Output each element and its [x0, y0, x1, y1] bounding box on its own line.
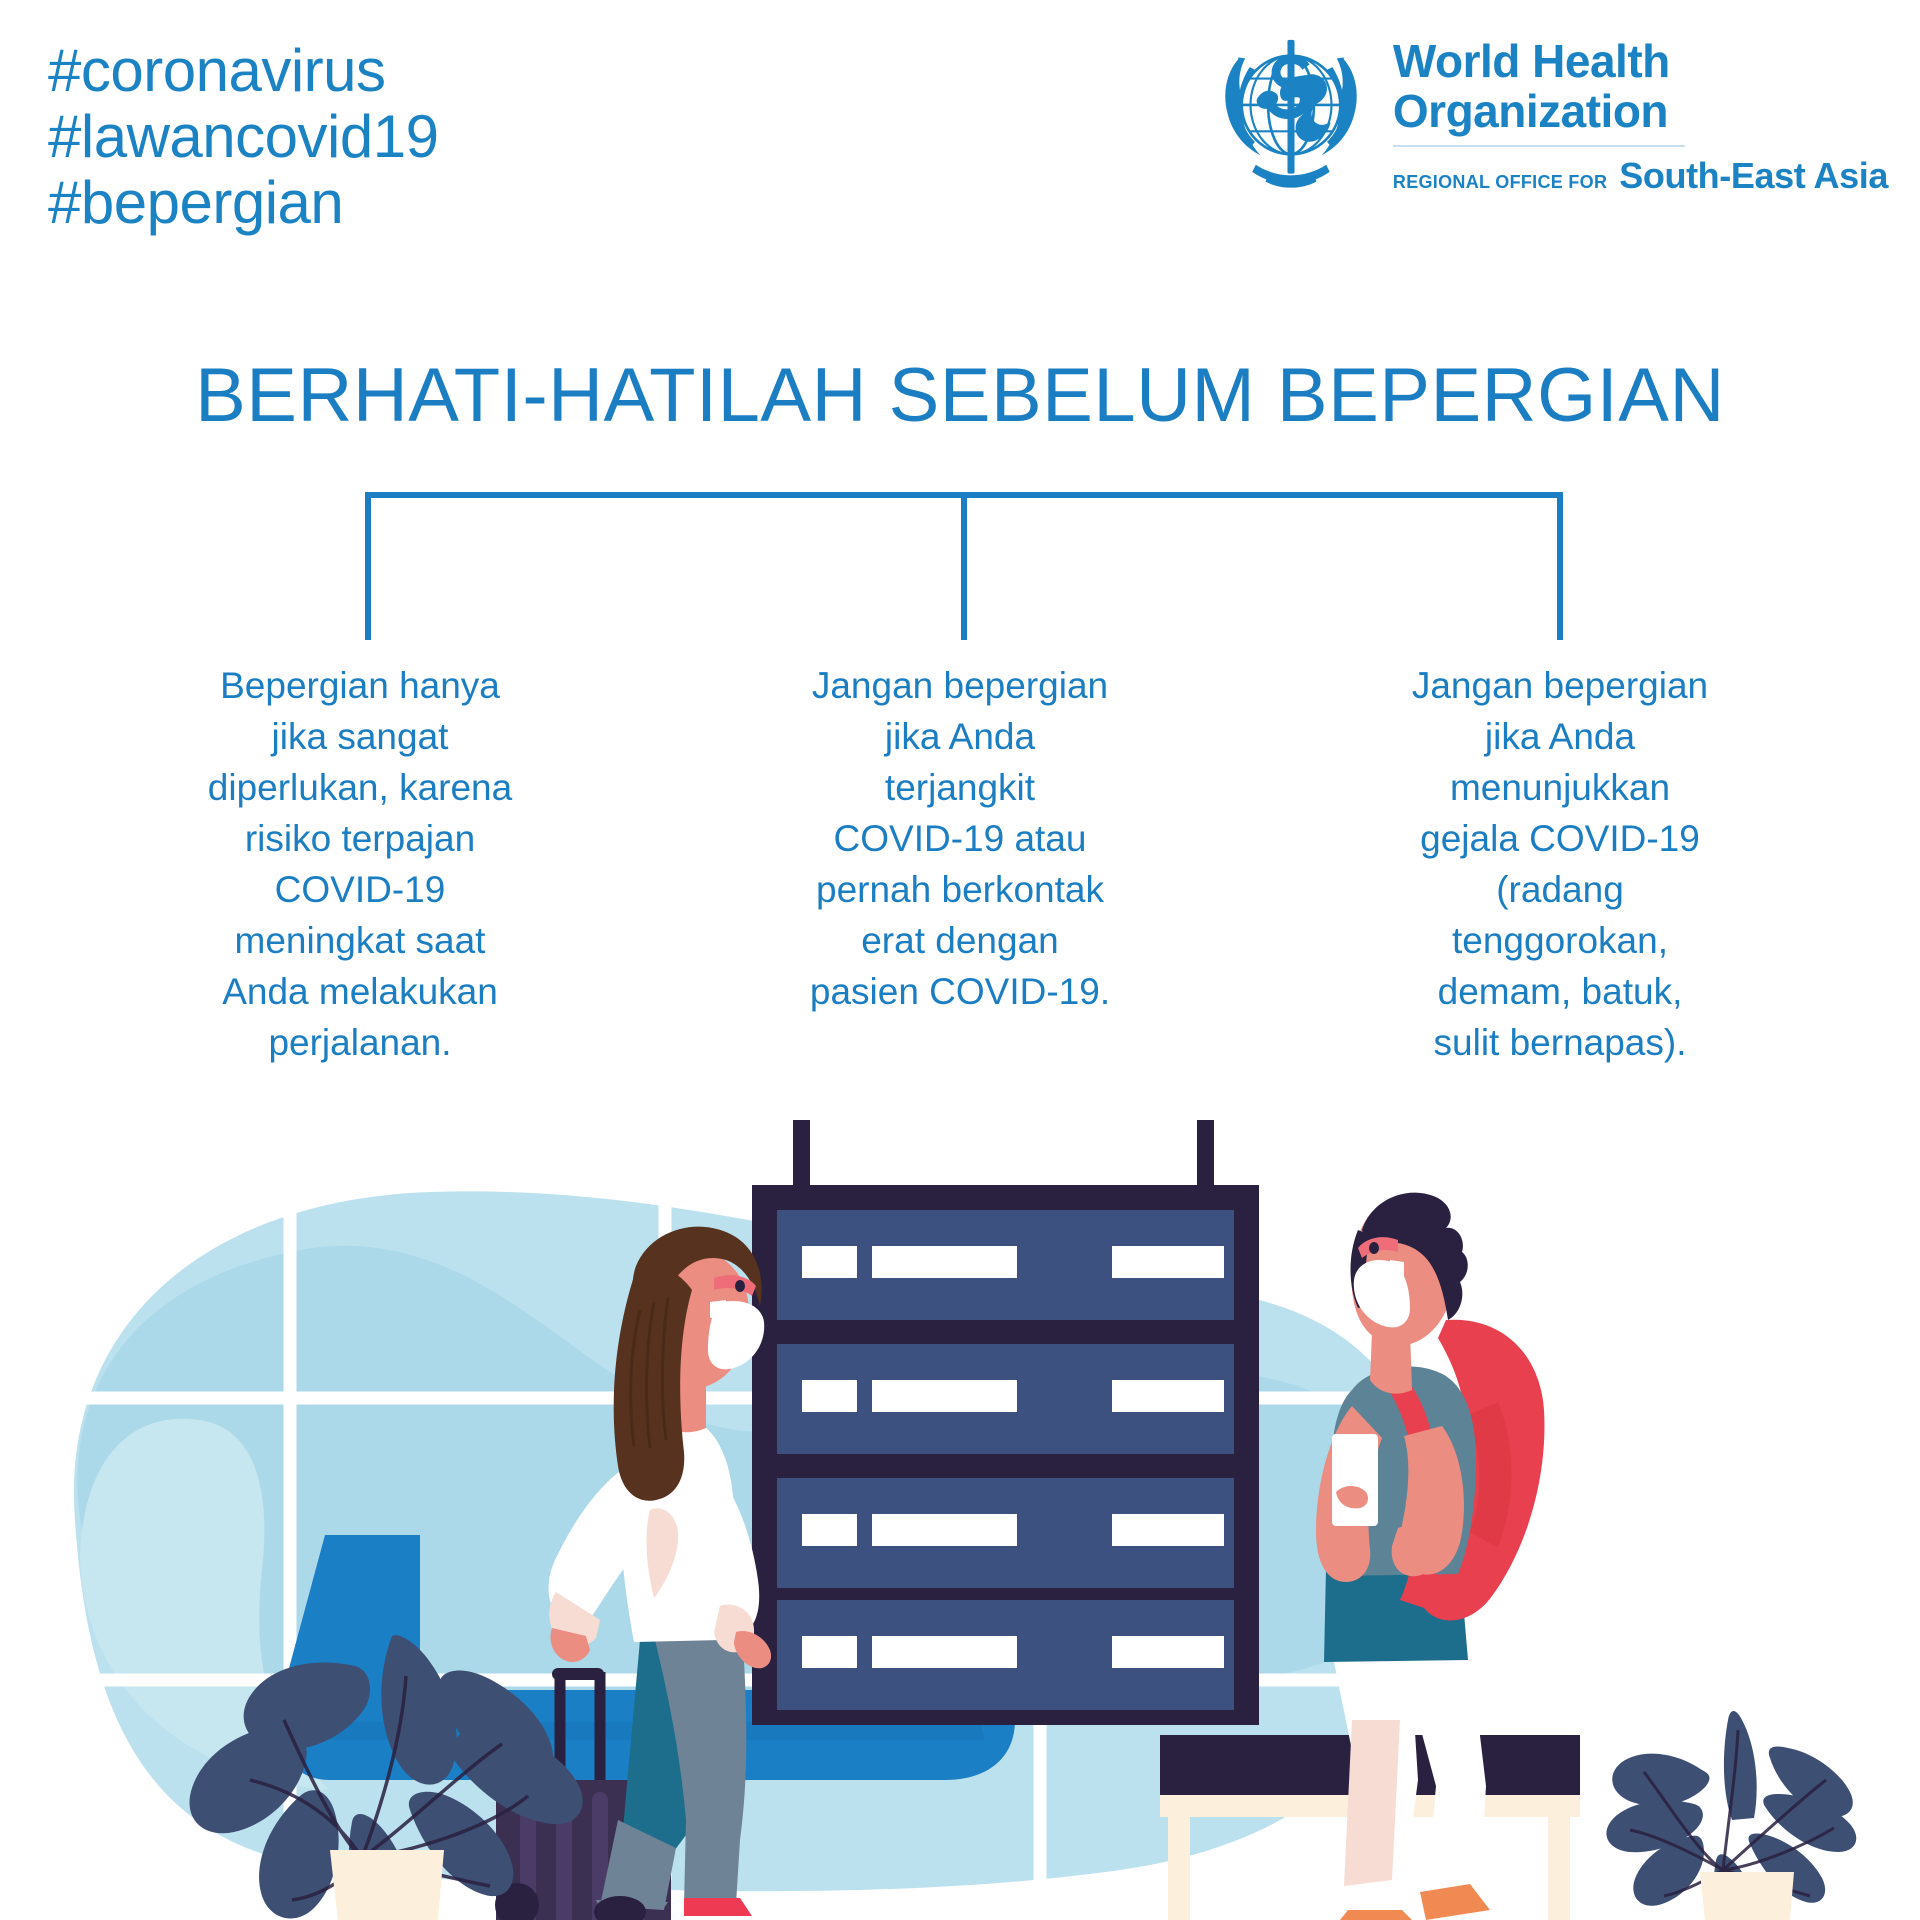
- advice-line: pasien COVID-19.: [720, 966, 1200, 1017]
- who-divider: [1393, 145, 1685, 147]
- advice-line: risiko terpajan: [120, 813, 600, 864]
- advice-line: Bepergian hanya: [120, 660, 600, 711]
- page-title: BERHATI-HATILAH SEBELUM BEPERGIAN: [0, 352, 1920, 439]
- who-emblem-icon: [1203, 24, 1379, 200]
- hashtag-line-1: #coronavirus: [48, 38, 808, 104]
- advice-line: Anda melakukan: [120, 966, 600, 1017]
- advice-line: terjangkit: [720, 762, 1200, 813]
- board-row: [777, 1210, 1234, 1320]
- board-row: [777, 1478, 1234, 1588]
- bracket-connector: [365, 492, 1563, 640]
- advice-line: Jangan bepergian: [1320, 660, 1800, 711]
- advice-line: meningkat saat: [120, 915, 600, 966]
- flight-information-board: [752, 1120, 1259, 1725]
- who-name: World Health Organization: [1393, 36, 1888, 136]
- plant-pot: [330, 1850, 444, 1920]
- bracket-stem-1: [365, 492, 371, 640]
- advice-line: diperlukan, karena: [120, 762, 600, 813]
- advice-line: (radang: [1320, 864, 1800, 915]
- advice-columns: Bepergian hanya jika sangat diperlukan, …: [120, 660, 1800, 1068]
- hashtag-line-3: #bepergian: [48, 170, 808, 236]
- boarding-pass: [1332, 1434, 1378, 1526]
- advice-line: jika Anda: [720, 711, 1200, 762]
- advice-column-2: Jangan bepergian jika Anda terjangkit CO…: [720, 660, 1200, 1068]
- advice-column-1: Bepergian hanya jika sangat diperlukan, …: [120, 660, 600, 1068]
- who-name-line-1: World Health: [1393, 36, 1888, 86]
- plant-pot: [1700, 1872, 1794, 1920]
- advice-line: COVID-19: [120, 864, 600, 915]
- hashtag-line-2: #lawancovid19: [48, 104, 808, 170]
- potted-plant-right: [1606, 1711, 1856, 1920]
- advice-line: COVID-19 atau: [720, 813, 1200, 864]
- board-row: [777, 1600, 1234, 1710]
- advice-line: sulit bernapas).: [1320, 1017, 1800, 1068]
- advice-line: pernah berkontak: [720, 864, 1200, 915]
- advice-line: tenggorokan,: [1320, 915, 1800, 966]
- advice-line: jika sangat: [120, 711, 600, 762]
- advice-line: gejala COVID-19: [1320, 813, 1800, 864]
- advice-line: menunjukkan: [1320, 762, 1800, 813]
- bracket-stem-2: [961, 492, 967, 640]
- who-region-row: REGIONAL OFFICE FOR South-East Asia: [1393, 155, 1888, 197]
- advice-column-3: Jangan bepergian jika Anda menunjukkan g…: [1320, 660, 1800, 1068]
- hashtag-block: #coronavirus #lawancovid19 #bepergian: [48, 38, 808, 236]
- advice-line: demam, batuk,: [1320, 966, 1800, 1017]
- advice-line: perjalanan.: [120, 1017, 600, 1068]
- who-name-line-2: Organization: [1393, 86, 1888, 136]
- who-office-for-label: REGIONAL OFFICE FOR: [1393, 172, 1607, 193]
- advice-line: jika Anda: [1320, 711, 1800, 762]
- advice-line: erat dengan: [720, 915, 1200, 966]
- advice-line: Jangan bepergian: [720, 660, 1200, 711]
- who-region-label: South-East Asia: [1619, 155, 1888, 197]
- airport-illustration: [0, 1080, 1920, 1920]
- who-logo: World Health Organization REGIONAL OFFIC…: [1203, 18, 1888, 224]
- who-wordmark: World Health Organization REGIONAL OFFIC…: [1393, 18, 1888, 197]
- bracket-stem-3: [1557, 492, 1563, 640]
- board-row: [777, 1344, 1234, 1454]
